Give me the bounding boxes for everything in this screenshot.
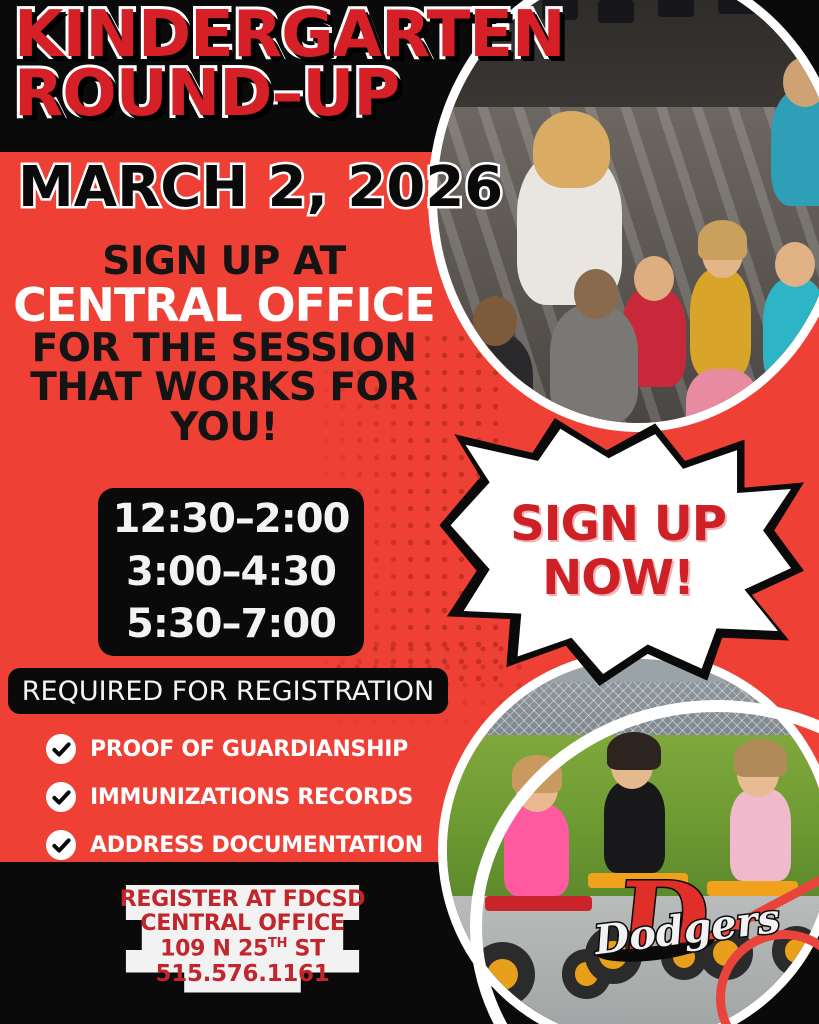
signup-line-3: FOR THE SESSION xyxy=(0,329,448,369)
address-street: ST xyxy=(287,936,325,961)
registration-info-badge: REGISTER AT FDCSD CENTRAL OFFICE 109 N 2… xyxy=(110,875,375,1000)
footer-address: 109 N 25TH ST xyxy=(160,937,325,962)
signup-line-1: SIGN UP AT xyxy=(0,242,448,282)
child-figure xyxy=(771,89,819,207)
session-time-2: 3:00–4:30 xyxy=(126,546,336,599)
requirement-label: IMMUNIZATIONS RECORDS xyxy=(90,785,413,810)
check-circle-icon xyxy=(46,782,76,812)
session-time-3: 5:30–7:00 xyxy=(126,598,336,651)
child-head xyxy=(574,269,618,319)
child-hair xyxy=(698,220,746,261)
footer-phone: 515.576.1161 xyxy=(156,962,330,988)
footer-line-1: REGISTER AT FDCSD xyxy=(120,888,366,913)
child-figure xyxy=(690,269,750,377)
check-circle-icon xyxy=(46,830,76,860)
page-title: KINDERGARTEN ROUND–UP xyxy=(14,6,534,124)
signup-instructions: SIGN UP AT CENTRAL OFFICE FOR THE SESSIO… xyxy=(0,242,448,448)
footer-line-2: CENTRAL OFFICE xyxy=(140,912,344,937)
starburst-text: SIGN UP NOW! xyxy=(432,418,804,686)
child-figure xyxy=(763,278,819,386)
kindergarten-roundup-flyer: KINDERGARTEN ROUND–UP MARCH 2, 2026 SIGN… xyxy=(0,0,819,1024)
signup-line-2: CENTRAL OFFICE xyxy=(0,282,448,329)
signup-line-5: YOU! xyxy=(0,408,448,448)
list-item: ADDRESS DOCUMENTATION xyxy=(46,822,446,868)
requirements-banner: REQUIRED FOR REGISTRATION xyxy=(8,668,448,714)
requirement-label: PROOF OF GUARDIANSHIP xyxy=(90,737,408,762)
event-date: MARCH 2, 2026 xyxy=(18,160,518,216)
check-circle-icon xyxy=(46,734,76,764)
requirements-list: PROOF OF GUARDIANSHIP IMMUNIZATIONS RECO… xyxy=(46,726,446,870)
child-head xyxy=(775,242,815,287)
teacher-hair xyxy=(533,111,609,188)
list-item: PROOF OF GUARDIANSHIP xyxy=(46,726,446,772)
dodgers-logo: D Dodgers xyxy=(592,868,752,988)
session-times-box: 12:30–2:00 3:00–4:30 5:30–7:00 xyxy=(98,488,364,656)
address-ordinal: TH xyxy=(268,936,287,951)
session-time-1: 12:30–2:00 xyxy=(113,493,350,546)
callout-line-2: NOW! xyxy=(542,552,694,606)
list-item: IMMUNIZATIONS RECORDS xyxy=(46,774,446,820)
requirement-label: ADDRESS DOCUMENTATION xyxy=(90,833,423,858)
child-figure xyxy=(550,305,638,423)
child-head xyxy=(634,256,674,301)
signup-line-4: THAT WORKS FOR xyxy=(0,368,448,408)
callout-line-1: SIGN UP xyxy=(510,498,726,552)
requirements-banner-label: REQUIRED FOR REGISTRATION xyxy=(22,676,434,707)
sign-up-now-callout: SIGN UP NOW! xyxy=(432,418,804,686)
address-number: 109 N 25 xyxy=(160,936,268,961)
child-head xyxy=(783,57,819,107)
